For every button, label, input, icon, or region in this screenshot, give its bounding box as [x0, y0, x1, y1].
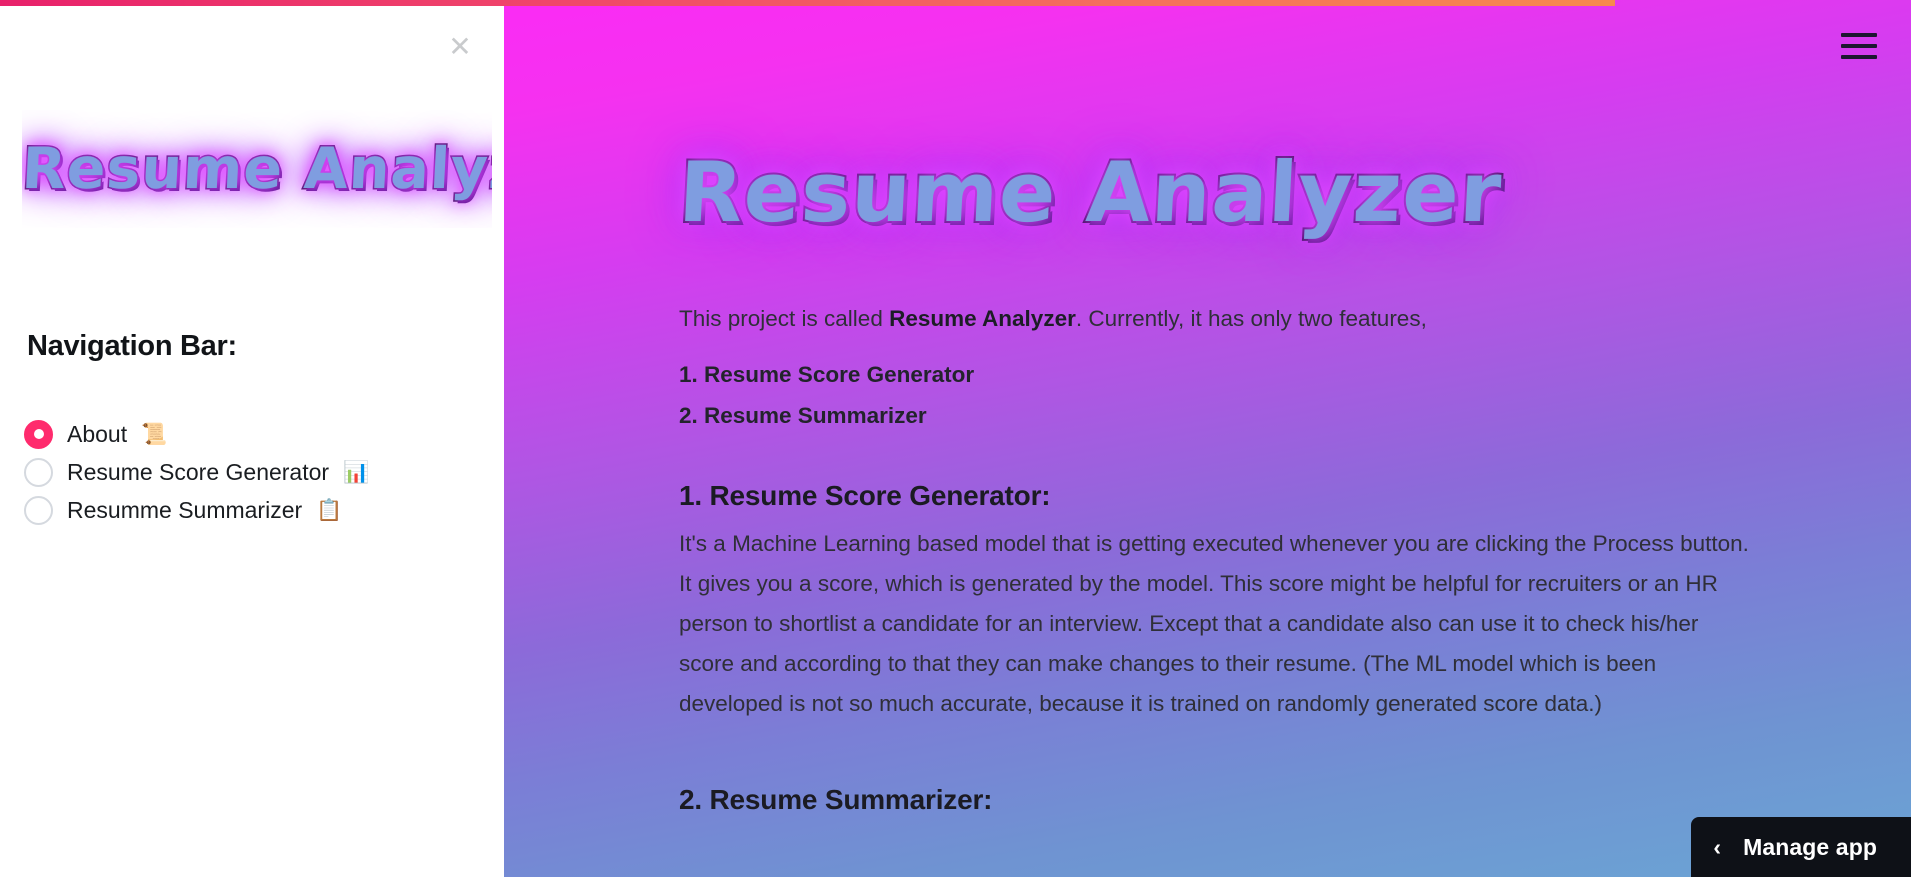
bar-chart-icon: 📊	[343, 460, 369, 485]
sidebar-item-label: Resumme Summarizer	[67, 497, 302, 524]
main-panel: Resume Analyzer This project is called R…	[504, 0, 1911, 877]
sidebar-logo-text: Resume Analyzer	[22, 110, 492, 228]
radio-icon-resume-summarizer[interactable]	[24, 496, 53, 525]
intro-prefix: This project is called	[679, 306, 889, 331]
radio-icon-resume-score-generator[interactable]	[24, 458, 53, 487]
main-logo: Resume Analyzer	[679, 118, 1719, 268]
manage-app-label: Manage app	[1743, 834, 1877, 861]
chevron-left-icon: ‹	[1713, 836, 1721, 859]
main-body: This project is called Resume Analyzer. …	[679, 302, 1759, 816]
close-icon[interactable]: ✕	[443, 30, 477, 64]
top-accent-bar	[0, 0, 1615, 6]
intro-suffix: . Currently, it has only two features,	[1076, 306, 1427, 331]
sidebar-item-label: About	[67, 421, 127, 448]
navigation-heading: Navigation Bar:	[27, 330, 237, 363]
sidebar-item-resume-score-generator[interactable]: Resume Score Generator 📊	[24, 453, 474, 491]
hamburger-bar	[1841, 55, 1877, 59]
section-two-heading: 2. Resume Summarizer:	[679, 784, 1759, 816]
hamburger-bar	[1841, 33, 1877, 37]
intro-bold: Resume Analyzer	[889, 306, 1076, 331]
section-one-body: It's a Machine Learning based model that…	[679, 524, 1759, 724]
sidebar-item-resume-summarizer[interactable]: Resumme Summarizer 📋	[24, 491, 474, 529]
feature-list-item: 2. Resume Summarizer	[679, 400, 1759, 433]
sidebar-logo: Resume Analyzer	[22, 110, 492, 228]
hamburger-bar	[1841, 44, 1877, 48]
main-content: Resume Analyzer This project is called R…	[504, 0, 1911, 877]
clipboard-icon: 📋	[316, 498, 342, 523]
sidebar-item-about[interactable]: About 📜	[24, 415, 474, 453]
sidebar: ✕ Resume Analyzer Navigation Bar: About …	[0, 0, 504, 877]
manage-app-button[interactable]: ‹ Manage app	[1691, 817, 1911, 877]
radio-icon-about[interactable]	[24, 420, 53, 449]
hamburger-icon[interactable]	[1841, 28, 1881, 64]
sidebar-item-label: Resume Score Generator	[67, 459, 329, 486]
section-one-heading: 1. Resume Score Generator:	[679, 480, 1759, 512]
navigation-radio-group[interactable]: About 📜 Resume Score Generator 📊 Resumme…	[24, 415, 474, 529]
intro-paragraph: This project is called Resume Analyzer. …	[679, 302, 1759, 337]
scroll-icon: 📜	[141, 422, 167, 447]
feature-list-item: 1. Resume Score Generator	[679, 359, 1759, 392]
app-root: ✕ Resume Analyzer Navigation Bar: About …	[0, 0, 1911, 877]
main-logo-text: Resume Analyzer	[675, 118, 1723, 268]
